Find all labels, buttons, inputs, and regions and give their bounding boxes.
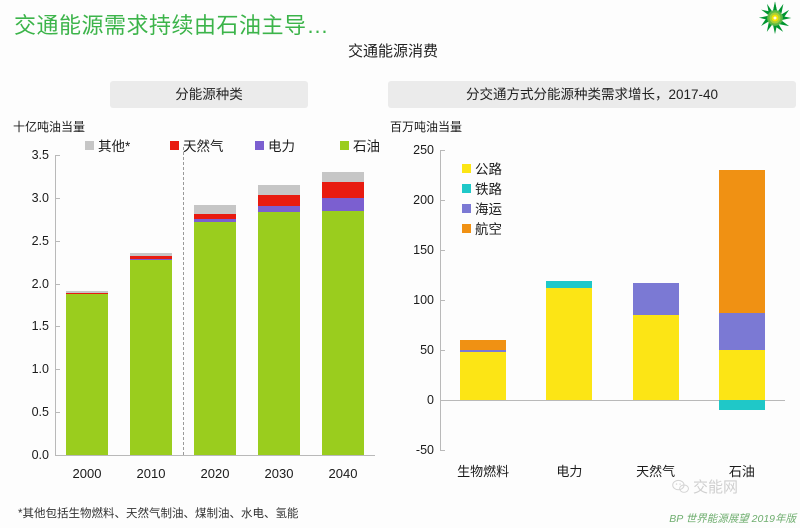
slide-root: 交通能源需求持续由石油主导…	[0, 0, 800, 528]
bar-segment[interactable]	[633, 315, 679, 400]
y-axis-tick	[440, 350, 445, 351]
legend-item[interactable]: 航空	[462, 218, 502, 238]
bar-segment[interactable]	[719, 313, 765, 350]
y-axis-tick-label: 2.0	[9, 277, 49, 291]
y-axis-tick-label: 0.5	[9, 405, 49, 419]
legend-item[interactable]: 石油	[340, 135, 380, 155]
left-chart-y-unit: 十亿吨油当量	[13, 118, 85, 135]
legend-label: 其他*	[98, 135, 130, 155]
y-axis-tick-label: 1.0	[9, 362, 49, 376]
legend-item[interactable]: 天然气	[170, 135, 224, 155]
x-axis-tick-label: 2000	[55, 466, 119, 481]
wechat-icon	[672, 479, 689, 494]
watermark: 交能网	[672, 476, 738, 497]
bar-segment[interactable]	[322, 211, 364, 455]
y-axis-tick	[55, 241, 60, 242]
bar-segment[interactable]	[322, 172, 364, 182]
bar-segment[interactable]	[633, 283, 679, 315]
y-axis-tick-label: 1.5	[9, 319, 49, 333]
legend-label: 航空	[475, 218, 502, 238]
y-axis-tick-label: 0	[394, 393, 434, 407]
legend-swatch	[462, 164, 471, 173]
legend-swatch	[462, 204, 471, 213]
left-panel-tag: 分能源种类	[110, 81, 308, 108]
y-axis-tick-label: 0.0	[9, 448, 49, 462]
legend-item[interactable]: 海运	[462, 198, 502, 218]
y-axis-tick	[440, 300, 445, 301]
right-chart-y-unit: 百万吨油当量	[390, 118, 462, 135]
bar-segment[interactable]	[546, 281, 592, 288]
bar-segment[interactable]	[258, 185, 300, 195]
bar-segment[interactable]	[258, 206, 300, 211]
legend-swatch	[462, 224, 471, 233]
x-axis-tick-label: 2020	[183, 466, 247, 481]
bar-segment[interactable]	[194, 222, 236, 455]
bar-segment[interactable]	[130, 260, 172, 455]
bp-helios-logo	[756, 1, 794, 35]
legend-swatch	[170, 141, 179, 150]
y-axis-tick	[55, 198, 60, 199]
y-axis-tick-label: -50	[394, 443, 434, 457]
legend-label: 海运	[475, 198, 502, 218]
y-axis-tick	[440, 250, 445, 251]
y-axis-tick	[440, 150, 445, 151]
bar-segment[interactable]	[66, 291, 108, 293]
legend-label: 公路	[475, 158, 502, 178]
bar-segment[interactable]	[719, 350, 765, 400]
bar-segment[interactable]	[460, 352, 506, 400]
bar-segment[interactable]	[130, 256, 172, 259]
zero-baseline	[55, 455, 375, 456]
bar-segment[interactable]	[460, 340, 506, 350]
bar-segment[interactable]	[719, 170, 765, 313]
y-axis-tick-label: 100	[394, 293, 434, 307]
bar-segment[interactable]	[258, 195, 300, 206]
bar-segment[interactable]	[322, 182, 364, 197]
y-axis-tick	[55, 369, 60, 370]
x-axis-tick-label: 生物燃料	[440, 461, 526, 480]
left-chart: 0.00.51.01.52.02.53.03.52000201020202030…	[55, 155, 375, 455]
legend-item[interactable]: 电力	[255, 135, 295, 155]
y-axis-tick-label: 3.0	[9, 191, 49, 205]
footnote: *其他包括生物燃料、天然气制油、煤制油、水电、氢能	[18, 505, 298, 521]
bar-segment[interactable]	[194, 214, 236, 219]
legend-label: 石油	[353, 135, 380, 155]
y-axis-tick-label: 250	[394, 143, 434, 157]
legend-label: 铁路	[475, 178, 502, 198]
y-axis-tick-label: 200	[394, 193, 434, 207]
watermark-label: 交能网	[693, 476, 738, 497]
y-axis-tick	[55, 284, 60, 285]
y-axis-tick	[440, 200, 445, 201]
y-axis-tick-label: 50	[394, 343, 434, 357]
legend-label: 电力	[268, 135, 295, 155]
right-panel-tag: 分交通方式分能源种类需求增长，2017-40	[388, 81, 796, 108]
x-axis-tick-label: 2010	[119, 466, 183, 481]
legend-swatch	[85, 141, 94, 150]
page-title: 交通能源需求持续由石油主导…	[14, 8, 329, 40]
right-chart: -50050100150200250生物燃料电力天然气石油公路铁路海运航空	[440, 150, 785, 450]
x-axis-tick-label: 2040	[311, 466, 375, 481]
legend-swatch	[340, 141, 349, 150]
legend-item[interactable]: 其他*	[85, 135, 130, 155]
y-axis-tick-label: 150	[394, 243, 434, 257]
y-axis-tick-label: 2.5	[9, 234, 49, 248]
bar-segment[interactable]	[258, 212, 300, 455]
bar-segment[interactable]	[194, 219, 236, 222]
legend-item[interactable]: 铁路	[462, 178, 502, 198]
legend-item[interactable]: 公路	[462, 158, 502, 178]
y-axis-tick	[55, 326, 60, 327]
y-axis-tick	[55, 155, 60, 156]
bar-segment[interactable]	[546, 288, 592, 400]
y-axis-tick	[440, 450, 445, 451]
bar-segment[interactable]	[66, 294, 108, 455]
y-axis-tick-label: 3.5	[9, 148, 49, 162]
legend-label: 天然气	[183, 135, 224, 155]
bar-segment[interactable]	[322, 198, 364, 211]
source-label: BP 世界能源展望 2019年版	[669, 511, 796, 526]
bar-segment[interactable]	[719, 400, 765, 410]
bar-segment[interactable]	[130, 253, 172, 256]
y-axis-tick	[55, 412, 60, 413]
bar-segment[interactable]	[66, 293, 108, 294]
x-axis-tick-label: 2030	[247, 466, 311, 481]
history-forecast-divider	[183, 147, 184, 455]
bar-segment[interactable]	[460, 350, 506, 352]
x-axis-tick-label: 电力	[526, 461, 612, 480]
legend-swatch	[255, 141, 264, 150]
y-axis-line	[55, 155, 56, 455]
bar-segment[interactable]	[194, 205, 236, 214]
subtitle: 交通能源消费	[348, 40, 438, 61]
legend-swatch	[462, 184, 471, 193]
bar-segment[interactable]	[130, 259, 172, 260]
